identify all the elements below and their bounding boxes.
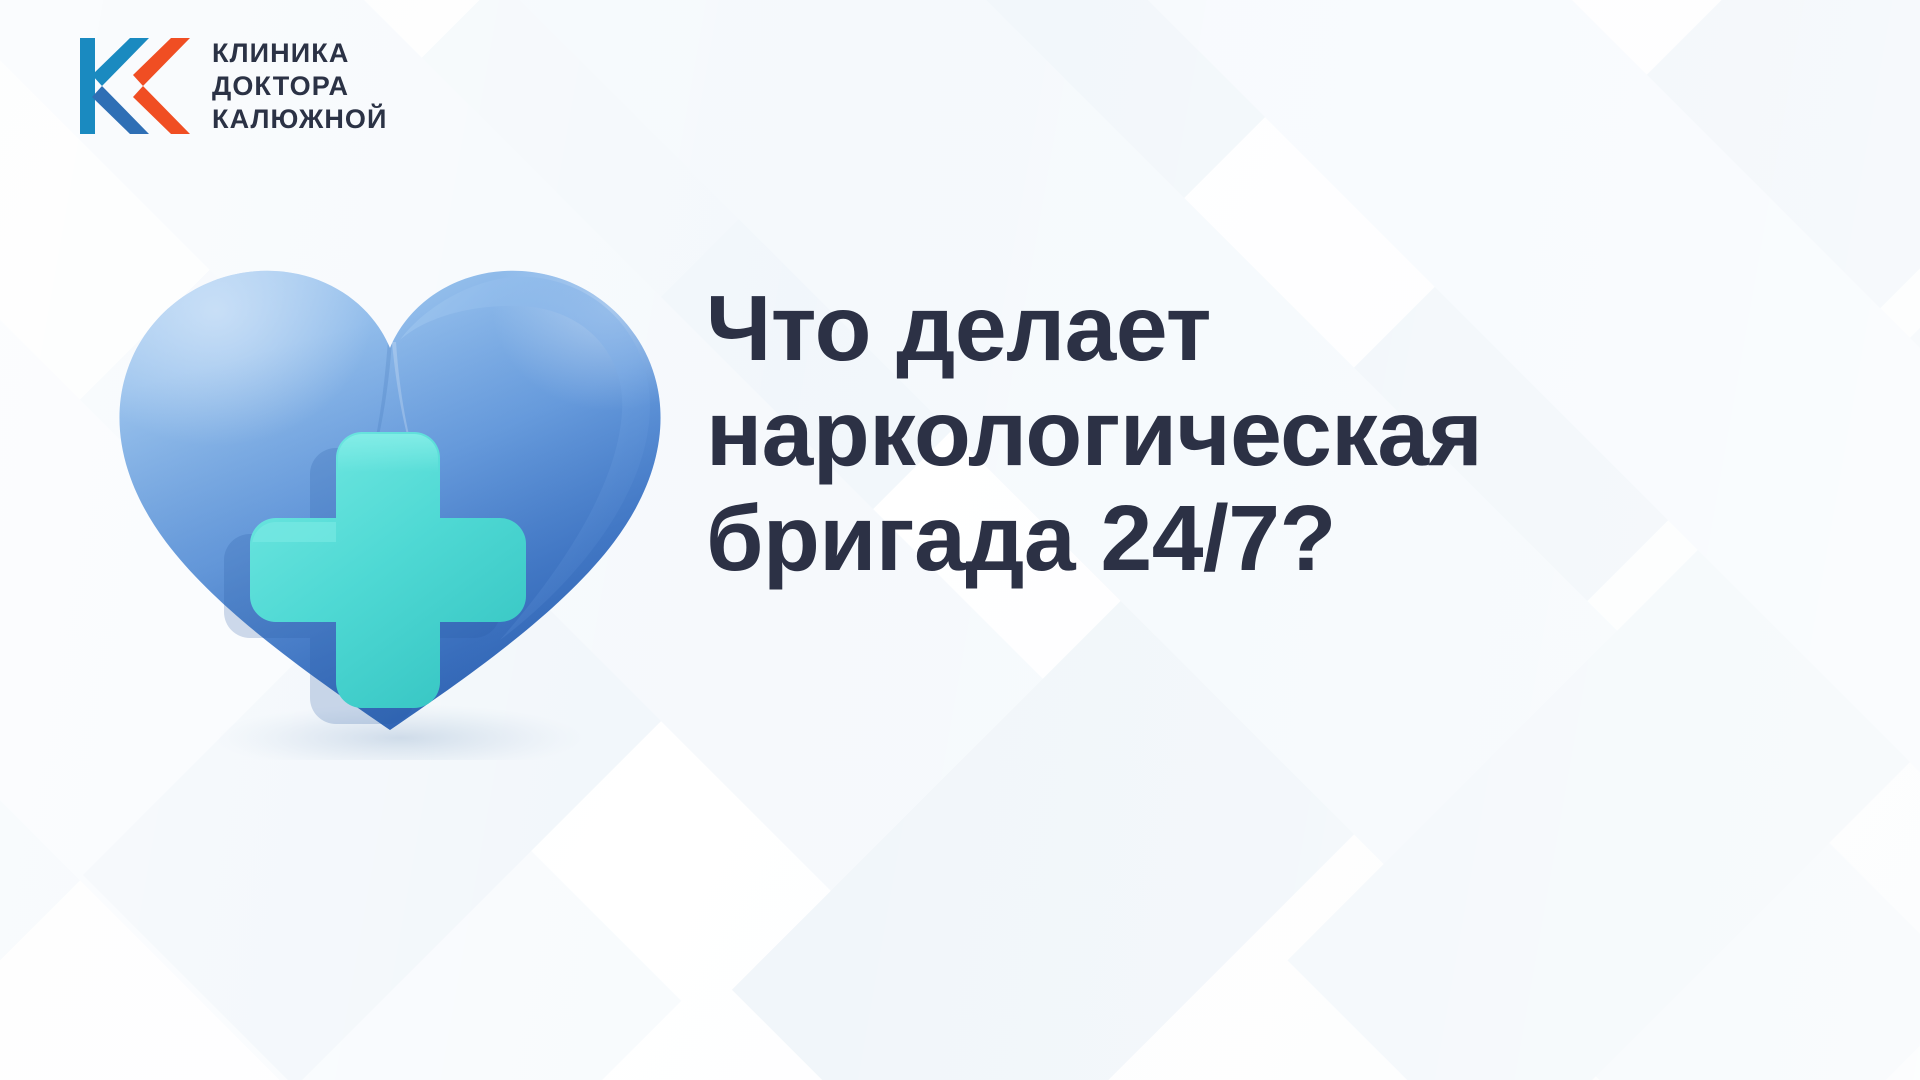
heart-with-medical-cross-icon xyxy=(70,190,710,760)
brand-logo-line-2: ДОКТОРА xyxy=(212,71,388,102)
headline-line-3: бригада 24/7? xyxy=(706,486,1866,591)
heart-illustration xyxy=(70,190,710,760)
brand-logo-line-3: КАЛЮЖНОЙ xyxy=(212,104,388,135)
brand-logo[interactable]: КЛИНИКА ДОКТОРА КАЛЮЖНОЙ xyxy=(78,34,388,138)
brand-logo-text: КЛИНИКА ДОКТОРА КАЛЮЖНОЙ xyxy=(212,38,388,135)
kk-chevron-logo-icon xyxy=(78,34,190,138)
headline-line-2: наркологическая xyxy=(706,381,1866,486)
promo-banner: КЛИНИКА ДОКТОРА КАЛЮЖНОЙ xyxy=(0,0,1920,1080)
brand-logo-line-1: КЛИНИКА xyxy=(212,38,388,69)
headline: Что делает наркологическая бригада 24/7? xyxy=(706,276,1866,591)
headline-line-1: Что делает xyxy=(706,276,1866,381)
